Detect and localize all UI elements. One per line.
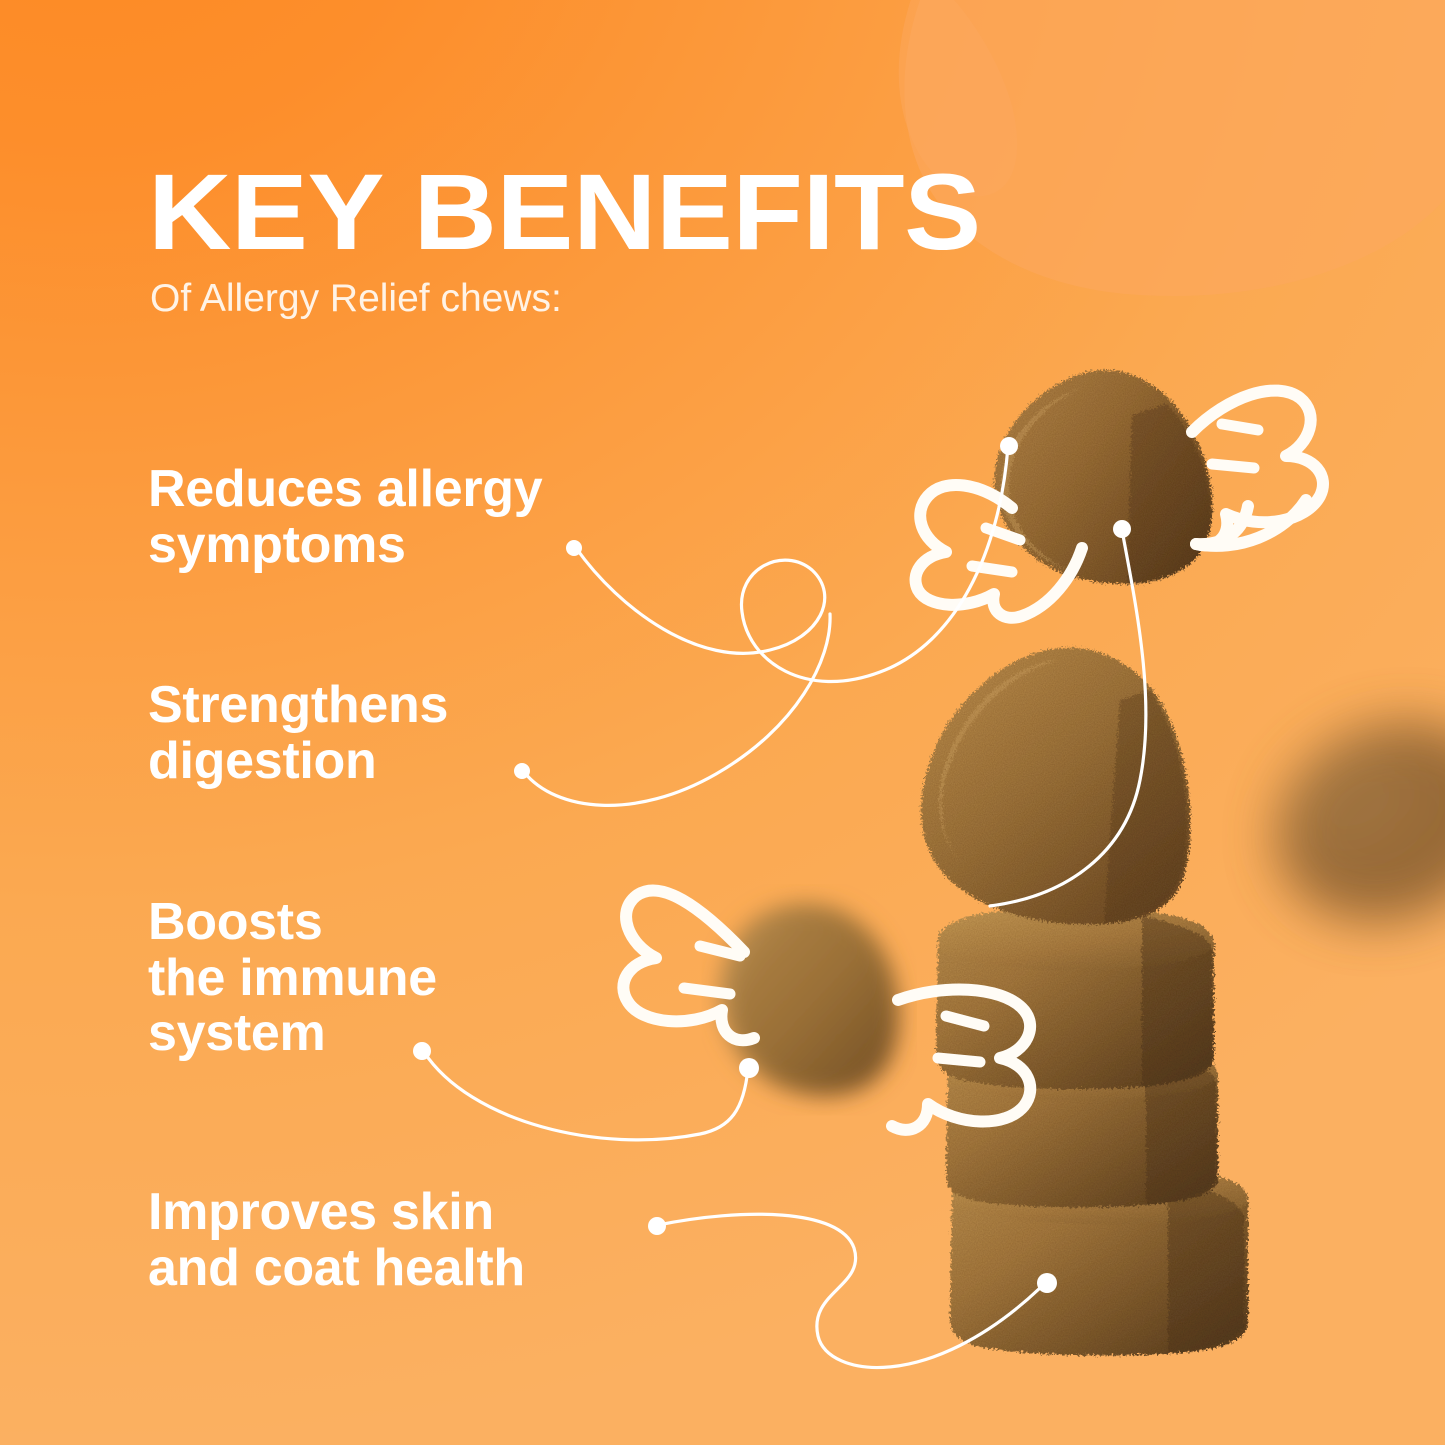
- chew-top-flying: [980, 357, 1222, 601]
- benefit-item-reduces-allergy-symptoms: Reduces allergy symptoms: [148, 462, 542, 573]
- page-title: KEY BENEFITS: [148, 160, 981, 265]
- wing-icon-top-right: [1192, 391, 1323, 546]
- wing-icon-middle-left: [623, 890, 754, 1040]
- chew-fourth: [946, 1043, 1218, 1207]
- benefit-item-strengthens-digestion: Strengthens digestion: [148, 678, 448, 789]
- blurred-background-chew: [1247, 689, 1445, 955]
- benefit-item-boosts-immune-system: Boosts the immune system: [148, 895, 437, 1062]
- chew-middle-flying-blurred: [720, 904, 899, 1096]
- connector-line-benefit-3: [413, 1042, 759, 1140]
- benefit-item-improves-skin-coat-health: Improves skin and coat health: [148, 1185, 525, 1296]
- connector-line-benefit-2: [514, 614, 830, 805]
- key-benefits-promo-image: KEY BENEFITS Of Allergy Relief chews: Re…: [0, 0, 1445, 1445]
- page-subtitle: Of Allergy Relief chews:: [150, 279, 926, 318]
- connector-line-benefit-4: [648, 1214, 1057, 1367]
- chew-bottom: [950, 1168, 1248, 1356]
- connector-line-benefit-1: [566, 437, 1018, 682]
- connector-line-top-chew-trail: [990, 520, 1146, 906]
- headline-block: KEY BENEFITS Of Allergy Relief chews:: [148, 160, 926, 318]
- wing-icon-middle-right: [892, 990, 1030, 1130]
- chew-second: [921, 648, 1190, 925]
- wing-icon-top-left: [916, 485, 1082, 618]
- chew-third: [936, 908, 1214, 1089]
